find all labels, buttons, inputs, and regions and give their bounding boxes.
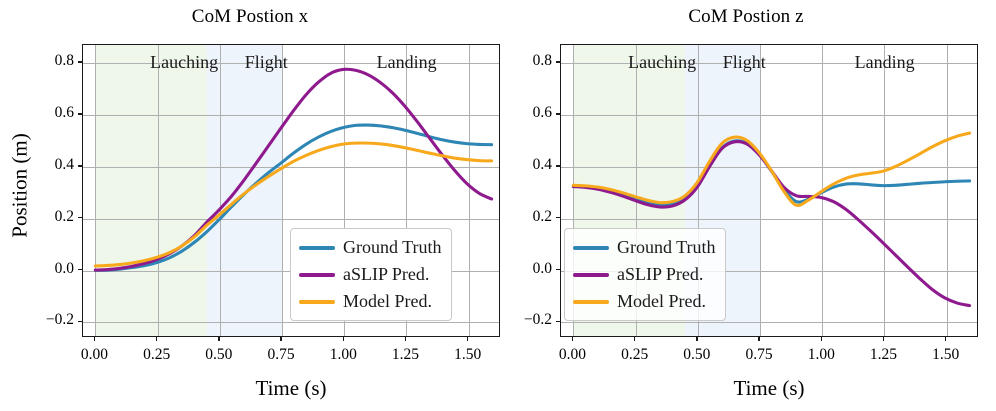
legend-entry[interactable]: aSLIP Pred. <box>573 262 716 287</box>
y-tickmark <box>556 321 560 322</box>
x-tick-label: 0.00 <box>59 346 129 364</box>
y-tick-label: 0.8 <box>500 52 552 70</box>
panel-title-x: CoM Postion x <box>0 6 500 28</box>
y-tickmark <box>78 61 82 62</box>
y-tickmark <box>556 113 560 114</box>
y-tick-label: 0.8 <box>22 52 74 70</box>
y-tick-label: 0.0 <box>500 260 552 278</box>
x-tickmark <box>280 337 281 341</box>
x-tickmark <box>821 337 822 341</box>
x-tick-label: 0.00 <box>537 346 607 364</box>
y-tick-label: 0.2 <box>500 208 552 226</box>
x-tickmark <box>696 337 697 341</box>
x-tickmark <box>94 337 95 341</box>
x-tick-label: 0.25 <box>122 346 192 364</box>
y-tick-label: 0.0 <box>22 260 74 278</box>
x-axis-label-z: Time (s) <box>560 376 978 401</box>
y-tickmark <box>78 217 82 218</box>
panel-title-z: CoM Postion z <box>496 6 996 28</box>
x-tick-label: 1.00 <box>786 346 856 364</box>
y-tickmark <box>556 269 560 270</box>
x-tick-label: 1.00 <box>308 346 378 364</box>
x-axis-label-x: Time (s) <box>82 376 500 401</box>
x-tick-label: 1.25 <box>370 346 440 364</box>
legend-entry[interactable]: Model Pred. <box>573 289 716 314</box>
y-tick-label: 0.2 <box>22 208 74 226</box>
legend-color-swatch <box>573 300 609 304</box>
x-tickmark <box>156 337 157 341</box>
x-tick-label: 0.75 <box>724 346 794 364</box>
y-axis-label: Position (m) <box>8 106 33 266</box>
legend-entry[interactable]: aSLIP Pred. <box>299 262 442 287</box>
subplot-com-position-z: CoM Postion z LauchingFlightLanding Time… <box>496 0 996 411</box>
x-tickmark <box>883 337 884 341</box>
x-tickmark <box>218 337 219 341</box>
legend-label: Ground Truth <box>343 237 442 258</box>
y-tickmark <box>78 269 82 270</box>
legend-color-swatch <box>299 300 335 304</box>
x-tickmark <box>343 337 344 341</box>
x-tick-label: 0.75 <box>246 346 316 364</box>
legend-label: Model Pred. <box>617 291 706 312</box>
y-tickmark <box>78 165 82 166</box>
legend-label: aSLIP Pred. <box>343 264 429 285</box>
x-tickmark <box>405 337 406 341</box>
legend-z[interactable]: Ground TruthaSLIP Pred.Model Pred. <box>564 228 726 321</box>
y-tick-label: 0.6 <box>22 104 74 122</box>
figure-canvas: CoM Postion x Position (m) LauchingFligh… <box>0 0 996 411</box>
y-tickmark <box>78 113 82 114</box>
x-tickmark <box>467 337 468 341</box>
legend-x[interactable]: Ground TruthaSLIP Pred.Model Pred. <box>290 228 452 321</box>
x-tick-label: 0.25 <box>600 346 670 364</box>
x-tickmark <box>634 337 635 341</box>
y-tickmark <box>556 165 560 166</box>
subplot-com-position-x: CoM Postion x Position (m) LauchingFligh… <box>0 0 500 411</box>
x-tick-label: 0.50 <box>662 346 732 364</box>
series-line-model-pred <box>573 133 969 205</box>
legend-color-swatch <box>573 273 609 277</box>
legend-color-swatch <box>299 246 335 250</box>
x-tick-label: 0.50 <box>184 346 254 364</box>
y-tickmark <box>556 61 560 62</box>
y-tick-label: 0.4 <box>22 156 74 174</box>
y-tickmark <box>556 217 560 218</box>
y-tick-label: 0.4 <box>500 156 552 174</box>
legend-entry[interactable]: Ground Truth <box>573 235 716 260</box>
x-tickmark <box>758 337 759 341</box>
x-tickmark <box>572 337 573 341</box>
legend-entry[interactable]: Ground Truth <box>299 235 442 260</box>
legend-color-swatch <box>299 273 335 277</box>
y-tickmark <box>78 321 82 322</box>
legend-label: Ground Truth <box>617 237 716 258</box>
y-tick-label: −0.2 <box>500 311 552 329</box>
x-tickmark <box>945 337 946 341</box>
x-tick-label: 1.25 <box>848 346 918 364</box>
x-tick-label: 1.50 <box>911 346 981 364</box>
legend-label: aSLIP Pred. <box>617 264 703 285</box>
legend-label: Model Pred. <box>343 291 432 312</box>
legend-entry[interactable]: Model Pred. <box>299 289 442 314</box>
legend-color-swatch <box>573 246 609 250</box>
x-tick-label: 1.50 <box>433 346 503 364</box>
y-tick-label: 0.6 <box>500 104 552 122</box>
y-tick-label: −0.2 <box>22 311 74 329</box>
